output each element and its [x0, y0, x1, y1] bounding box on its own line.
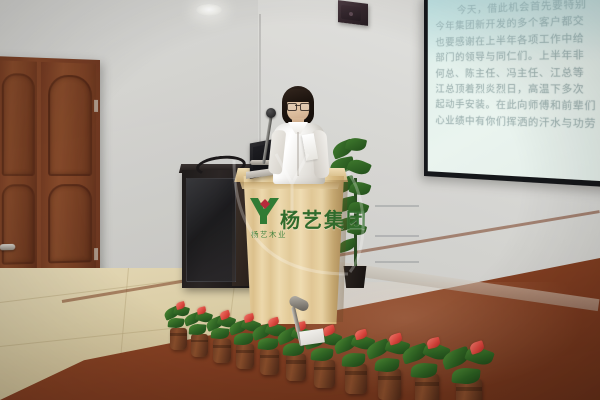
plant-pot [314, 360, 335, 388]
slide-line: 江总顶着烈炎烈日，高温下多次 [435, 82, 600, 99]
wooden-double-door[interactable] [0, 56, 100, 294]
ceiling-speaker-driver [349, 12, 353, 16]
ceiling-downlight-icon [196, 4, 222, 16]
slide-line: 心业绩中有你们挥洒的汗水与功劳 [435, 113, 600, 134]
presenter-glasses-icon [287, 103, 309, 109]
door-panel [2, 73, 35, 176]
presenter-shirt-placket [297, 132, 299, 176]
plant-pot [415, 374, 439, 400]
projection-screen: 今天，借此机会首先要特别 今年集团新开发的多个客户都交 也要感谢在上半年各项工作… [424, 0, 600, 188]
presenter [268, 86, 330, 184]
projection-screen-surface: 今天，借此机会首先要特别 今年集团新开发的多个客户都交 也要感谢在上半年各项工作… [428, 0, 600, 182]
company-logo-mark-icon [248, 196, 282, 226]
slide-text-block: 今天，借此机会首先要特别 今年集团新开发的多个客户都交 也要感谢在上半年各项工作… [435, 0, 600, 134]
presenter-hair-fringe [284, 89, 312, 102]
door-hinge [94, 100, 98, 112]
plant-pot [286, 354, 306, 381]
plant-pot [236, 344, 254, 369]
door-panel [48, 74, 92, 176]
slide-line: 何总、陈主任、冯主任、江总等 [435, 64, 600, 82]
plant-pot [345, 364, 367, 394]
door-hinge [94, 248, 98, 260]
conference-room-photo: 今天，借此机会首先要特别 今年集团新开发的多个客户都交 也要感谢在上半年各项工作… [0, 0, 600, 400]
plant-pot [170, 328, 187, 350]
door-panel [2, 184, 35, 265]
plant-leaf [211, 327, 230, 340]
plant-pot [260, 349, 279, 375]
anthurium-row [150, 276, 580, 400]
door-panel [48, 184, 92, 263]
plant-pot [213, 339, 231, 363]
door-handle[interactable] [0, 244, 15, 251]
plant-pot [191, 334, 208, 357]
slide-line: 部门的领导与同仁们。上半年非 [435, 47, 600, 66]
podium-logo-text: 杨艺集团 [280, 210, 368, 230]
av-rack-glass-door[interactable] [186, 178, 236, 282]
plant-pot [378, 369, 401, 400]
podium-logo: 杨艺集团 杨艺木业 [246, 196, 342, 252]
podium-logo-subtext: 杨艺木业 [251, 229, 287, 240]
glasses-lens-right [300, 103, 310, 111]
